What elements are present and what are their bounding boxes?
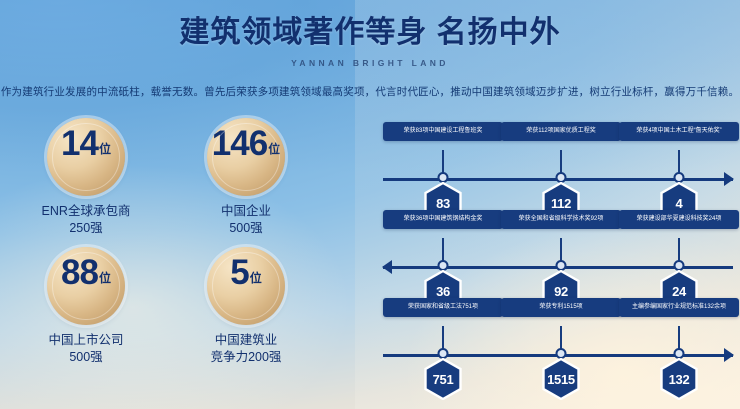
award-count-value: 751 xyxy=(433,372,454,387)
stat-number: 146 xyxy=(212,126,267,161)
stat-label-line1: ENR全球承包商 xyxy=(42,203,131,220)
timeline-arrow-right-icon xyxy=(724,348,734,362)
timeline-row: 荣获36项中国建筑钢结构金奖36荣获全国和省级科学技术奖92项92荣获建设部华夏… xyxy=(383,210,733,298)
timeline-item[interactable]: 荣获4项中国土木工程“詹天佑奖”4 xyxy=(619,122,739,141)
stat-unit: 位 xyxy=(268,140,280,157)
timeline-arrow-right-icon xyxy=(724,172,734,186)
award-label: 荣获专利1515项 xyxy=(501,298,621,317)
stats-grid: 14位ENR全球承包商250强146位中国企业500强88位中国上市公司500强… xyxy=(6,118,326,366)
stat-item: 146位中国企业500强 xyxy=(166,118,326,237)
award-label: 荣获112项国家优质工程奖 xyxy=(501,122,621,141)
stat-label: ENR全球承包商250强 xyxy=(42,203,131,237)
stat-unit: 位 xyxy=(250,269,262,286)
timeline-item[interactable]: 荣获建设部华夏建设科技奖24项24 xyxy=(619,210,739,229)
timeline-item[interactable]: 荣获全国和省级科学技术奖92项92 xyxy=(501,210,621,229)
timeline-item[interactable]: 荣获112项国家优质工程奖112 xyxy=(501,122,621,141)
award-count-value: 1515 xyxy=(547,372,575,387)
page-title: 建筑领域著作等身 名扬中外 xyxy=(0,14,740,52)
stat-coin: 146位 xyxy=(207,118,285,196)
stat-number: 5 xyxy=(230,255,248,290)
award-label: 荣获36项中国建筑钢结构金奖 xyxy=(383,210,503,229)
stat-label-line2: 500强 xyxy=(221,220,271,237)
stat-label: 中国企业500强 xyxy=(221,203,271,237)
stat-label-line2: 竞争力200强 xyxy=(211,349,282,366)
stat-item: 88位中国上市公司500强 xyxy=(6,247,166,366)
award-count-value: 92 xyxy=(554,284,568,299)
stat-number: 14 xyxy=(61,126,98,161)
stat-label: 中国建筑业竞争力200强 xyxy=(211,332,282,366)
timeline-item[interactable]: 荣获专利1515项1515 xyxy=(501,298,621,317)
award-count-value: 132 xyxy=(669,372,690,387)
stat-unit: 位 xyxy=(99,269,111,286)
award-count-value: 112 xyxy=(551,196,571,211)
award-label: 荣获全国和省级科学技术奖92项 xyxy=(501,210,621,229)
stat-item: 14位ENR全球承包商250强 xyxy=(6,118,166,237)
stat-label-line1: 中国上市公司 xyxy=(48,332,123,349)
award-label: 荣获建设部华夏建设科技奖24项 xyxy=(619,210,739,229)
page-header: 建筑领域著作等身 名扬中外 YANNAN BRIGHT LAND xyxy=(0,14,740,68)
stat-coin: 14位 xyxy=(47,118,125,196)
stat-label-line1: 中国企业 xyxy=(221,203,271,220)
timeline-row: 荣获国家和省级工法751项751荣获专利1515项1515主编参编国家行业规范标… xyxy=(383,298,733,386)
timeline-row: 荣获83项中国建设工程鲁班奖83荣获112项国家优质工程奖112荣获4项中国土木… xyxy=(383,122,733,210)
stat-label-line1: 中国建筑业 xyxy=(211,332,282,349)
award-count-badge: 132 xyxy=(660,358,698,400)
stat-number: 88 xyxy=(61,255,98,290)
timeline-item[interactable]: 主编参编国家行业规范标准132余项132 xyxy=(619,298,739,317)
stat-label-line2: 250强 xyxy=(42,220,131,237)
award-label: 主编参编国家行业规范标准132余项 xyxy=(619,298,739,317)
intro-paragraph: 作为建筑行业发展的中流砥柱，载誉无数。曾先后荣获多项建筑领域最高奖项，代言时代匠… xyxy=(0,84,740,99)
stat-coin: 88位 xyxy=(47,247,125,325)
stat-unit: 位 xyxy=(99,140,111,157)
timeline-item[interactable]: 荣获36项中国建筑钢结构金奖36 xyxy=(383,210,503,229)
award-count-value: 36 xyxy=(436,284,450,299)
timeline-arrow-left-icon xyxy=(382,260,392,274)
award-count-value: 4 xyxy=(676,196,683,211)
stat-label-line2: 500强 xyxy=(48,349,123,366)
stat-label: 中国上市公司500强 xyxy=(48,332,123,366)
award-count-badge: 1515 xyxy=(542,358,580,400)
timeline-item[interactable]: 荣获国家和省级工法751项751 xyxy=(383,298,503,317)
timeline-item[interactable]: 荣获83项中国建设工程鲁班奖83 xyxy=(383,122,503,141)
awards-timelines: 荣获83项中国建设工程鲁班奖83荣获112项国家优质工程奖112荣获4项中国土木… xyxy=(383,122,733,386)
page-subtitle: YANNAN BRIGHT LAND xyxy=(0,58,740,68)
award-label: 荣获83项中国建设工程鲁班奖 xyxy=(383,122,503,141)
award-label: 荣获国家和省级工法751项 xyxy=(383,298,503,317)
award-count-value: 83 xyxy=(436,196,450,211)
award-label: 荣获4项中国土木工程“詹天佑奖” xyxy=(619,122,739,141)
award-count-badge: 751 xyxy=(424,358,462,400)
award-count-value: 24 xyxy=(672,284,686,299)
stat-item: 5位中国建筑业竞争力200强 xyxy=(166,247,326,366)
stat-coin: 5位 xyxy=(207,247,285,325)
